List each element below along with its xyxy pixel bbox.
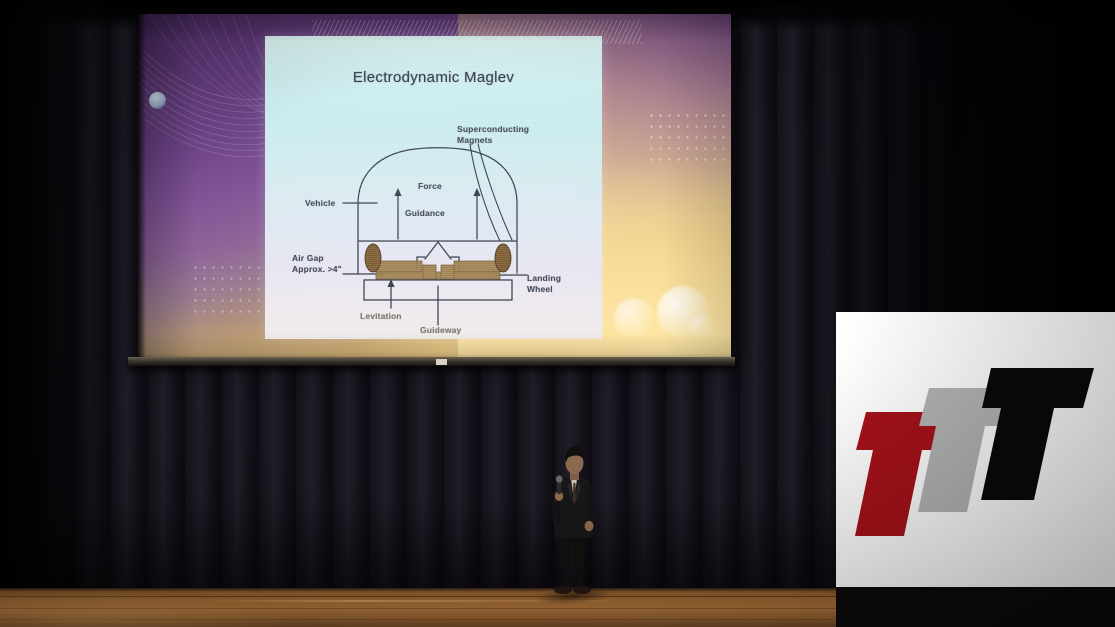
label-superconducting-magnets: Superconducting Magnets bbox=[457, 124, 529, 145]
label-force: Force bbox=[418, 181, 442, 192]
screen-pull-tab bbox=[436, 359, 447, 365]
decorative-sphere-c bbox=[689, 314, 715, 340]
decorative-sphere-b bbox=[614, 298, 654, 338]
screenshot-frame: Electrodynamic Maglev bbox=[0, 0, 1115, 627]
logo-card-bottom-band bbox=[836, 587, 1115, 627]
label-landing-wheel: Landing Wheel bbox=[527, 273, 561, 294]
label-air-gap: Air Gap Approx. >4" bbox=[292, 253, 342, 274]
speaker bbox=[540, 438, 610, 608]
label-guidance: Guidance bbox=[405, 208, 445, 219]
logo-t-black bbox=[981, 368, 1094, 500]
speaker-figure bbox=[540, 438, 610, 608]
label-guideway: Guideway bbox=[420, 325, 461, 336]
decorative-sphere-small bbox=[149, 92, 166, 109]
slide-content-panel: Electrodynamic Maglev bbox=[265, 36, 602, 339]
logo-card bbox=[836, 312, 1115, 587]
screen-surface: Electrodynamic Maglev bbox=[137, 14, 731, 361]
three-t-logo bbox=[836, 312, 1115, 587]
label-levitation: Levitation bbox=[360, 311, 402, 322]
label-vehicle: Vehicle bbox=[305, 198, 335, 209]
dot-grid-right bbox=[647, 110, 725, 162]
screen-left-edge-shadow bbox=[137, 14, 146, 361]
projection-screen: Electrodynamic Maglev bbox=[137, 14, 731, 361]
screen-weight-bar bbox=[128, 357, 735, 366]
floor-light-spill bbox=[0, 590, 300, 627]
